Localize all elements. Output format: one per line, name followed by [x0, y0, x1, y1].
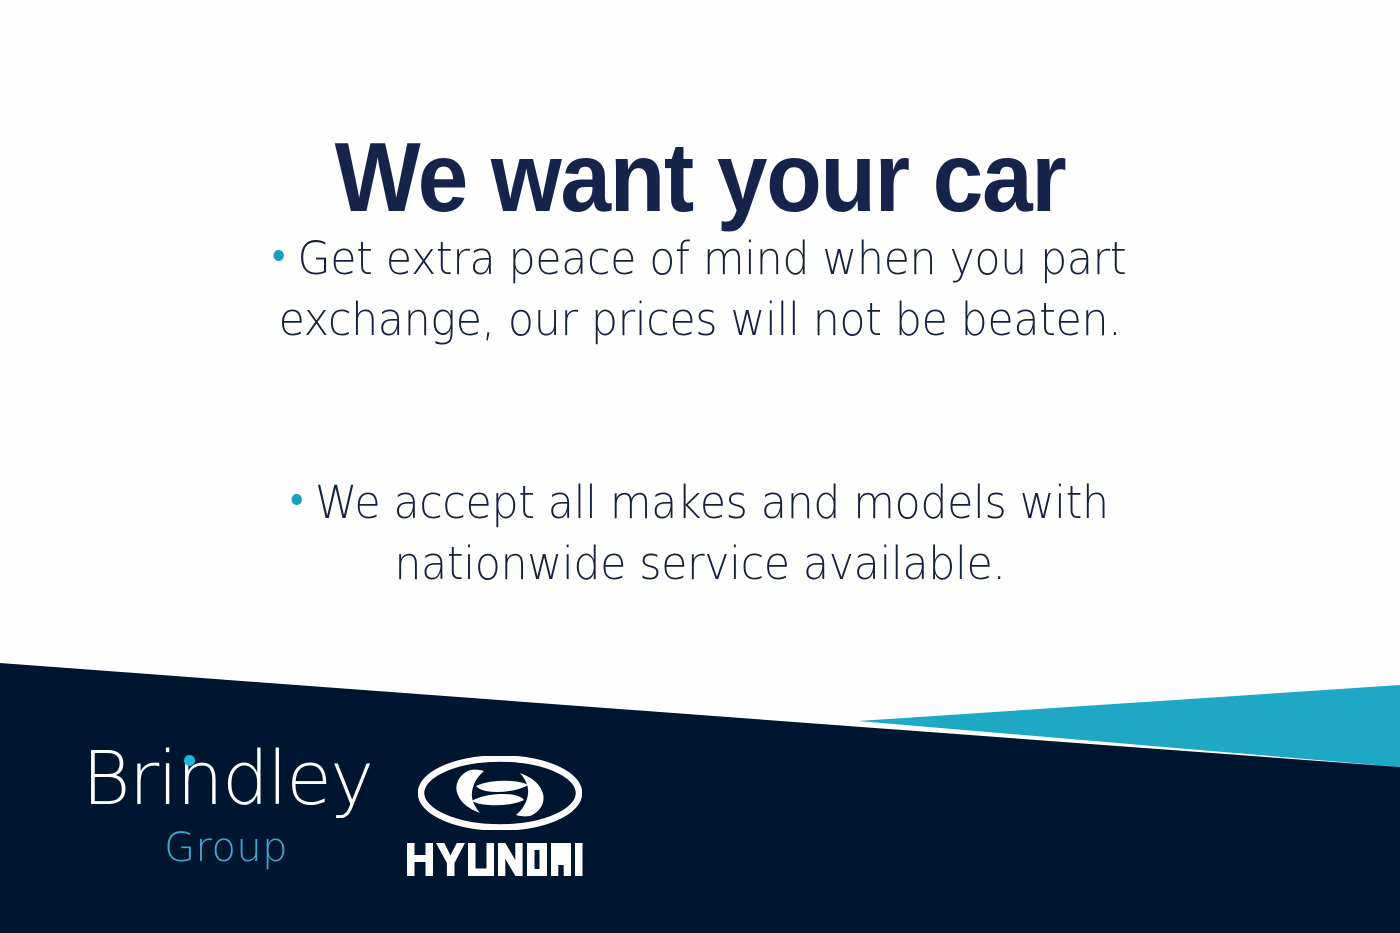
bullet-text: We accept all makes and models with nati… [315, 476, 1109, 590]
bullet-item-all-makes-models: We accept all makes and models with nati… [173, 472, 1228, 594]
hyundai-ellipse-h-emblem [418, 756, 582, 830]
bullet-dot-icon [274, 250, 284, 261]
hyundai-wordmark-accessible-text: HYUNDAI [0, 0, 1, 1]
teal-diagonal-band [858, 685, 1400, 767]
hyundai-logo: HYUNDAI [390, 756, 610, 888]
bullet-list: Get extra peace of mind when you part ex… [145, 228, 1255, 594]
promo-card: We want your car Get extra peace of mind… [0, 0, 1400, 933]
bullet-item-part-exchange: Get extra peace of mind when you part ex… [173, 228, 1228, 350]
bullet-text: Get extra peace of mind when you part ex… [279, 232, 1127, 346]
hyundai-wordmark: HYUNDAI [407, 843, 593, 876]
brindley-group-logo: Brindley Group [78, 742, 344, 874]
brindley-wordmark-label: Brindley [82, 736, 372, 822]
headline: We want your car [49, 128, 1351, 228]
brindley-wordmark-text: Brindley [78, 742, 344, 816]
brindley-i-dot-icon [184, 755, 195, 766]
bullet-dot-icon [291, 494, 301, 505]
brindley-group-subtext: Group [78, 828, 344, 868]
footer-logo-row: Brindley Group [78, 742, 610, 888]
